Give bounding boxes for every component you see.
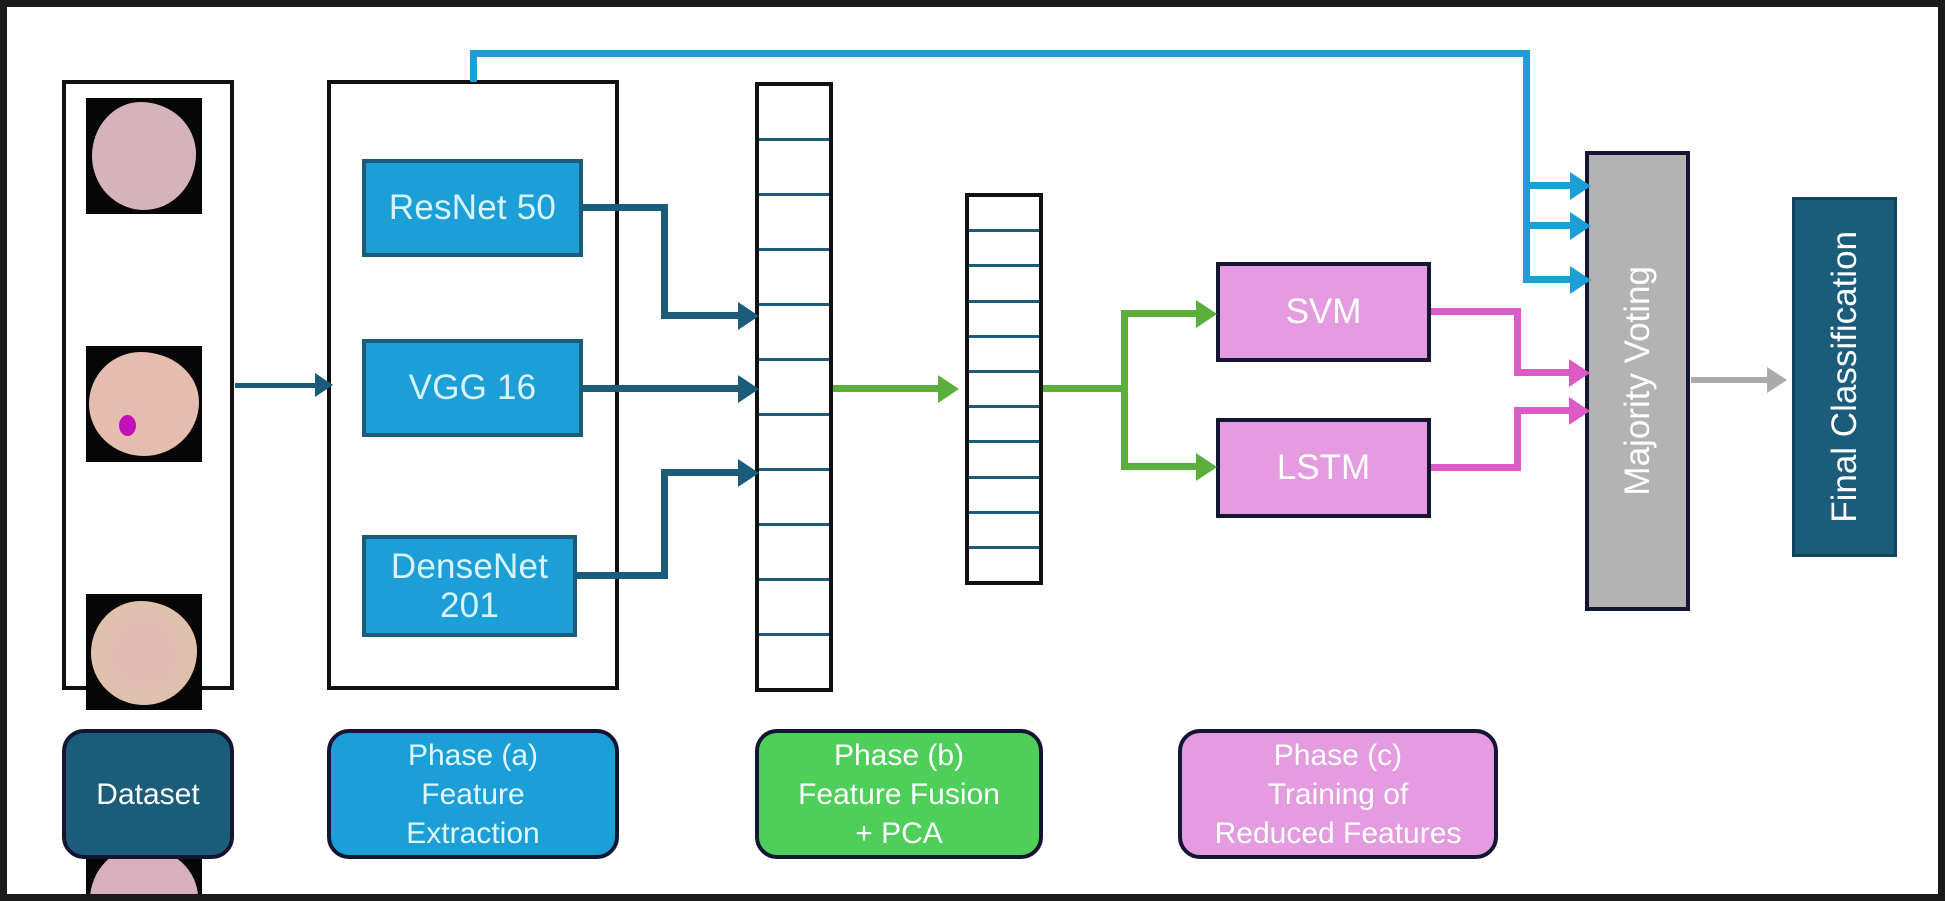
legend-phase-c[interactable]: Phase (c) Training of Reduced Features: [1178, 729, 1498, 859]
bypass-line-h-top: [470, 50, 1530, 57]
arrow-dataset-to-phasea-head: [315, 373, 333, 397]
parasite-marker: [119, 415, 136, 436]
classifier-box-lstm[interactable]: LSTM: [1216, 418, 1431, 518]
legend-dataset-label: Dataset: [96, 775, 199, 814]
arrow-densenet-v: [661, 469, 668, 579]
bypass-branch-3-head: [1570, 266, 1591, 294]
feature-cell: [759, 86, 829, 141]
feature-cell: [969, 443, 1039, 478]
reduced-feature-vector: [965, 193, 1043, 585]
feature-cell: [969, 549, 1039, 581]
final-classification-box[interactable]: Final Classification: [1792, 197, 1897, 557]
legend-phase-a-line1: Phase (a): [408, 736, 538, 775]
arrow-densenet-head: [738, 459, 759, 487]
feature-cell: [969, 303, 1039, 338]
feature-cell: [969, 338, 1039, 373]
model-box-resnet50[interactable]: ResNet 50: [362, 159, 583, 257]
arrow-resnet-head: [738, 302, 759, 330]
feature-cell: [969, 373, 1039, 408]
arrow-lstm-shaft: [1121, 463, 1201, 470]
legend-phase-a-line2: Feature: [421, 775, 524, 814]
arrow-svm-to-voting-h1: [1431, 308, 1521, 315]
arrow-resnet-h2: [661, 312, 743, 319]
arrow-voting-to-final-head: [1767, 367, 1787, 393]
bypass-branch-1-h: [1523, 182, 1577, 189]
final-classification-label: Final Classification: [1825, 231, 1865, 523]
dataset-panel: [62, 80, 234, 690]
bypass-branch-2-head: [1570, 212, 1591, 240]
feature-cell: [969, 514, 1039, 549]
red-blood-cell: [91, 601, 197, 705]
majority-voting-box[interactable]: Majority Voting: [1585, 151, 1690, 611]
red-blood-cell: [92, 102, 196, 210]
dataset-sample-2: [86, 346, 202, 462]
feature-cell: [969, 479, 1039, 514]
arrow-resnet-v: [661, 204, 668, 316]
arrow-voting-to-final-shaft: [1691, 377, 1771, 383]
arrow-resnet-h1: [583, 204, 668, 211]
bypass-branch-1-head: [1570, 172, 1591, 200]
dataset-sample-3: [86, 594, 202, 710]
arrow-svm-to-voting-head: [1569, 359, 1590, 387]
arrow-lstm-to-voting-v: [1514, 407, 1521, 471]
feature-cell: [759, 141, 829, 196]
legend-phase-c-line3: Reduced Features: [1215, 814, 1462, 853]
legend-phase-b-line3: + PCA: [855, 814, 943, 853]
bypass-branch-3-h: [1523, 276, 1577, 283]
model-label-vgg16: VGG 16: [409, 368, 537, 407]
feature-cell: [759, 361, 829, 416]
classifier-label-lstm: LSTM: [1277, 448, 1370, 488]
classifier-label-svm: SVM: [1286, 292, 1362, 332]
model-label-resnet50: ResNet 50: [389, 188, 556, 227]
legend-phase-a[interactable]: Phase (a) Feature Extraction: [327, 729, 619, 859]
arrow-svm-head: [1196, 300, 1217, 328]
arrow-vgg-head: [738, 375, 759, 403]
red-blood-cell: [89, 352, 199, 456]
legend-phase-b[interactable]: Phase (b) Feature Fusion + PCA: [755, 729, 1043, 859]
arrow-reduced-branch-v: [1121, 310, 1128, 470]
arrow-vgg-shaft: [583, 385, 743, 392]
arrow-lstm-to-voting-head: [1569, 397, 1590, 425]
classifier-box-svm[interactable]: SVM: [1216, 262, 1431, 362]
model-box-densenet201[interactable]: DenseNet 201: [362, 535, 577, 637]
model-label-densenet201-line1: DenseNet: [391, 547, 548, 586]
feature-cell: [759, 471, 829, 526]
arrow-fusion-shaft: [833, 385, 943, 392]
feature-cell: [759, 526, 829, 581]
feature-cell: [759, 416, 829, 471]
legend-phase-b-line2: Feature Fusion: [798, 775, 1000, 814]
feature-cell: [759, 306, 829, 361]
legend-phase-a-line3: Extraction: [406, 814, 539, 853]
legend-phase-c-line1: Phase (c): [1274, 736, 1402, 775]
diagram-canvas: ResNet 50 VGG 16 DenseNet 201 SVM LSTM: [0, 0, 1945, 901]
arrow-dataset-to-phasea-shaft: [235, 383, 319, 388]
feature-cell: [969, 408, 1039, 443]
legend-dataset[interactable]: Dataset: [62, 729, 234, 859]
bypass-line-v-right: [1523, 50, 1530, 283]
legend-phase-b-line1: Phase (b): [834, 736, 964, 775]
arrow-svm-to-voting-h2: [1514, 369, 1576, 376]
arrow-svm-shaft: [1121, 310, 1201, 317]
bypass-branch-2-h: [1523, 222, 1577, 229]
majority-voting-label: Majority Voting: [1618, 266, 1658, 496]
legend-phase-c-line2: Training of: [1268, 775, 1409, 814]
model-box-vgg16[interactable]: VGG 16: [362, 339, 583, 437]
arrow-lstm-to-voting-h2: [1514, 407, 1576, 414]
feature-cell: [969, 232, 1039, 267]
arrow-lstm-head: [1196, 453, 1217, 481]
fused-feature-vector: [755, 82, 833, 692]
arrow-densenet-h2: [661, 469, 743, 476]
feature-cell: [969, 267, 1039, 302]
arrow-svm-to-voting-v: [1514, 308, 1521, 376]
feature-cell: [759, 251, 829, 306]
feature-cell: [759, 581, 829, 636]
model-label-densenet201-line2: 201: [440, 586, 499, 625]
arrow-densenet-h1: [575, 572, 668, 579]
feature-cell: [969, 197, 1039, 232]
dataset-sample-1: [86, 98, 202, 214]
arrow-fusion-head: [938, 375, 959, 403]
feature-cell: [759, 196, 829, 251]
arrow-lstm-to-voting-h1: [1431, 464, 1521, 471]
feature-cell: [759, 636, 829, 688]
arrow-reduced-trunk: [1043, 385, 1128, 392]
